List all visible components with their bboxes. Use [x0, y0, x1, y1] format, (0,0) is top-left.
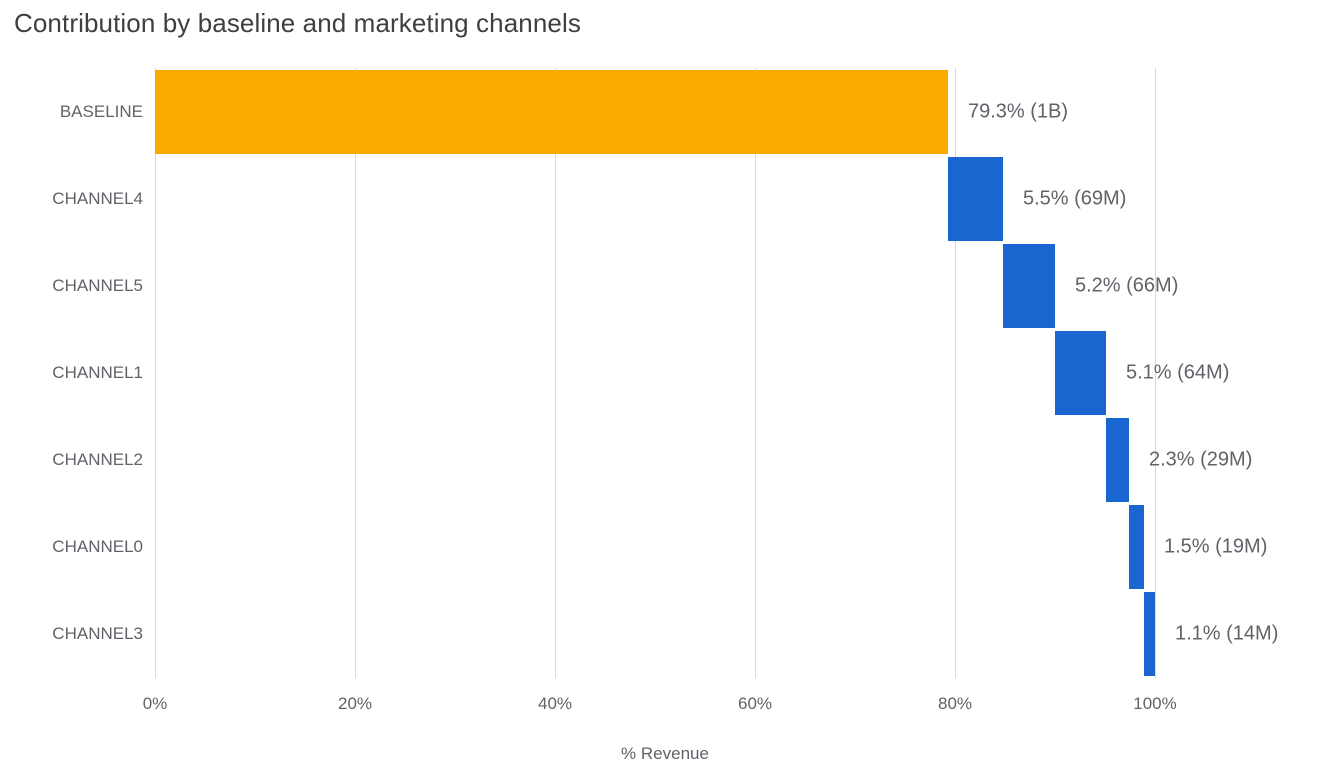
bar-value-label-channel1: 5.1% (64M) — [1126, 362, 1229, 385]
y-axis-label-baseline: BASELINE — [3, 102, 143, 122]
bar-value-label-channel3: 1.1% (14M) — [1175, 623, 1278, 646]
bar-value-label-baseline: 79.3% (1B) — [968, 100, 1068, 123]
x-axis-title: % Revenue — [0, 744, 1330, 764]
bar-value-label-channel4: 5.5% (69M) — [1023, 187, 1126, 210]
bar-channel4[interactable] — [948, 157, 1003, 241]
plot-area: 79.3% (1B)5.5% (69M)5.2% (66M)5.1% (64M)… — [155, 68, 1155, 678]
y-axis-label-channel4: CHANNEL4 — [3, 189, 143, 209]
y-axis-label-channel0: CHANNEL0 — [3, 537, 143, 557]
bar-channel2[interactable] — [1106, 418, 1129, 502]
waterfall-chart: Contribution by baseline and marketing c… — [0, 0, 1330, 781]
bar-value-label-channel5: 5.2% (66M) — [1075, 274, 1178, 297]
gridline-20pct — [355, 68, 356, 678]
x-tick-100pct: 100% — [1133, 694, 1176, 714]
bar-channel3[interactable] — [1144, 592, 1155, 676]
y-axis-label-channel2: CHANNEL2 — [3, 450, 143, 470]
y-axis-label-channel3: CHANNEL3 — [3, 624, 143, 644]
y-axis-label-channel1: CHANNEL1 — [3, 363, 143, 383]
x-tick-80pct: 80% — [938, 694, 972, 714]
y-axis-label-channel5: CHANNEL5 — [3, 276, 143, 296]
x-tick-60pct: 60% — [738, 694, 772, 714]
y-axis-category-labels: BASELINECHANNEL4CHANNEL5CHANNEL1CHANNEL2… — [0, 0, 143, 781]
bar-channel0[interactable] — [1129, 505, 1144, 589]
bar-baseline[interactable] — [155, 70, 948, 154]
gridline-60pct — [755, 68, 756, 678]
x-tick-40pct: 40% — [538, 694, 572, 714]
x-tick-20pct: 20% — [338, 694, 372, 714]
bar-value-label-channel0: 1.5% (19M) — [1164, 536, 1267, 559]
bar-channel5[interactable] — [1003, 244, 1055, 328]
x-tick-0pct: 0% — [143, 694, 168, 714]
bar-channel1[interactable] — [1055, 331, 1106, 415]
bar-value-label-channel2: 2.3% (29M) — [1149, 449, 1252, 472]
gridline-40pct — [555, 68, 556, 678]
gridline-0pct — [155, 68, 156, 678]
